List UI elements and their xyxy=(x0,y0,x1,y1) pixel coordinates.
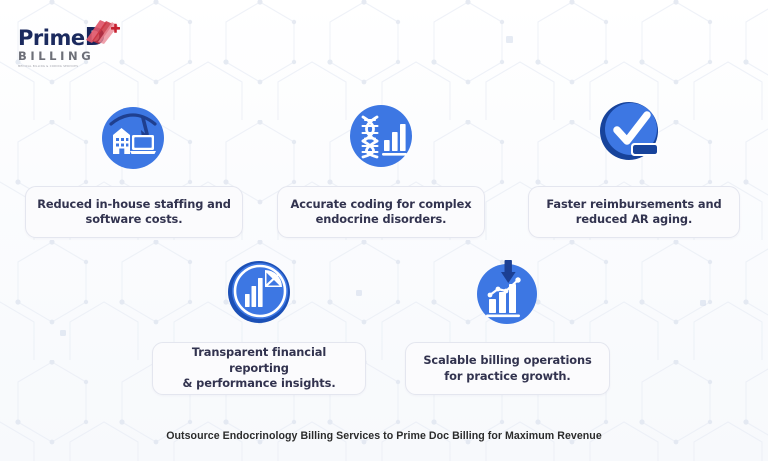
logo-subtitle: BILLING xyxy=(18,50,130,63)
building-laptop-arrow-icon xyxy=(99,102,167,170)
feature-card-2-line2: endocrine disorders. xyxy=(316,212,447,226)
feature-card-3-line2: reduced AR aging. xyxy=(576,212,692,226)
feature-card-1-line2: software costs. xyxy=(86,212,183,226)
dna-bar-chart-icon xyxy=(347,102,415,170)
feature-card-5-line1: Scalable billing operations xyxy=(423,353,591,367)
feature-card-4-line1: Transparent financial reporting xyxy=(192,345,326,375)
feature-card-1-text: Reduced in-house staffing and software c… xyxy=(37,197,231,228)
feature-card-1[interactable]: Reduced in-house staffing and software c… xyxy=(25,186,243,238)
logo-tagline: MEDICAL BILLING & CODING SERVICES xyxy=(18,64,130,69)
feature-card-4-text: Transparent financial reporting & perfor… xyxy=(163,345,355,392)
feature-card-3[interactable]: Faster reimbursements and reduced AR agi… xyxy=(528,186,740,238)
growth-chart-arrow-icon xyxy=(473,258,541,326)
infographic-canvas: PrimeD BILLING MEDICAL BILLING & CODING … xyxy=(0,0,768,461)
check-circle-bar-icon xyxy=(597,98,665,166)
feature-card-3-line1: Faster reimbursements and xyxy=(546,197,721,211)
feature-card-3-text: Faster reimbursements and reduced AR agi… xyxy=(546,197,721,228)
logo-swoosh-icon xyxy=(80,18,124,44)
infographic-caption: Outsource Endocrinology Billing Services… xyxy=(0,430,768,442)
feature-card-5-line2: for practice growth. xyxy=(444,369,570,383)
logo-wordmark-prime: Prime xyxy=(18,26,85,50)
feature-card-2-text: Accurate coding for complex endocrine di… xyxy=(291,197,472,228)
pie-bar-report-icon xyxy=(226,258,294,326)
feature-card-2-line1: Accurate coding for complex xyxy=(291,197,472,211)
feature-card-5-text: Scalable billing operations for practice… xyxy=(423,353,591,384)
feature-card-4-line2: & performance insights. xyxy=(182,376,335,390)
feature-card-2[interactable]: Accurate coding for complex endocrine di… xyxy=(277,186,485,238)
feature-card-1-line1: Reduced in-house staffing and xyxy=(37,197,231,211)
feature-card-4[interactable]: Transparent financial reporting & perfor… xyxy=(152,342,366,395)
feature-card-5[interactable]: Scalable billing operations for practice… xyxy=(405,342,610,395)
brand-logo[interactable]: PrimeD BILLING MEDICAL BILLING & CODING … xyxy=(18,26,130,78)
